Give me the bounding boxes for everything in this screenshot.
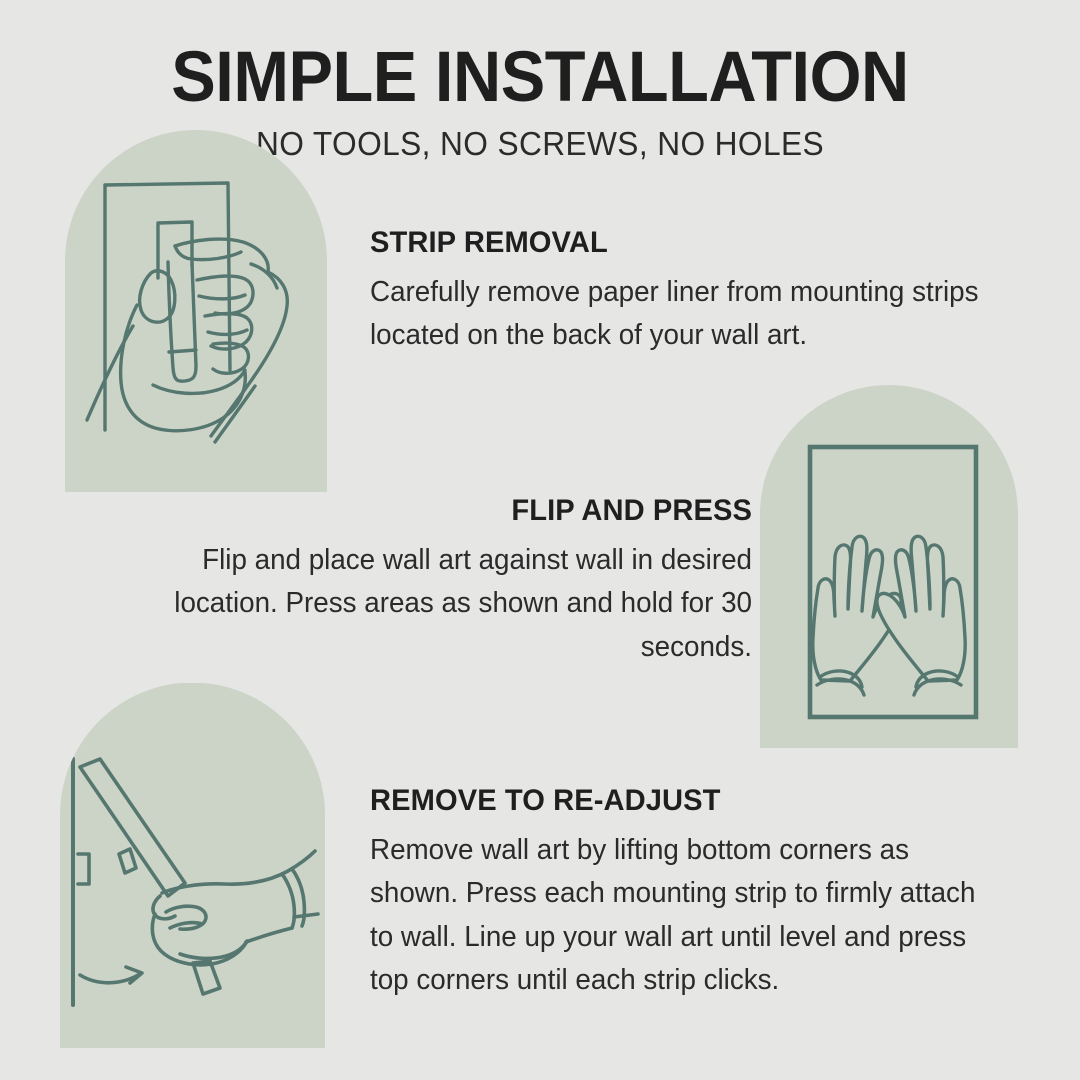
step-remove-to-re-adjust: REMOVE TO RE-ADJUST Remove wall art by l… [370, 786, 1015, 1002]
infographic-page: SIMPLE INSTALLATION NO TOOLS, NO SCREWS,… [0, 0, 1080, 1080]
hand-peeling-liner-icon [65, 130, 327, 492]
step-body-remove-to-re-adjust: Remove wall art by lifting bottom corner… [370, 829, 999, 1002]
illustration-panel-remove-to-re-adjust [60, 683, 325, 1048]
step-body-strip-removal: Carefully remove paper liner from mounti… [370, 271, 994, 358]
hand-lifting-corner-icon [60, 683, 325, 1048]
two-hands-pressing-panel-icon [760, 385, 1018, 748]
page-title: SIMPLE INSTALLATION [32, 42, 1047, 113]
illustration-panel-strip-removal [65, 130, 327, 492]
step-strip-removal: STRIP REMOVAL Carefully remove paper lin… [370, 228, 1010, 358]
step-heading-flip-and-press: FLIP AND PRESS [131, 496, 752, 526]
illustration-panel-flip-and-press [760, 385, 1018, 748]
step-body-flip-and-press: Flip and place wall art against wall in … [128, 539, 752, 669]
step-heading-strip-removal: STRIP REMOVAL [370, 228, 991, 258]
step-flip-and-press: FLIP AND PRESS Flip and place wall art a… [112, 496, 752, 669]
step-heading-remove-to-re-adjust: REMOVE TO RE-ADJUST [370, 786, 996, 816]
